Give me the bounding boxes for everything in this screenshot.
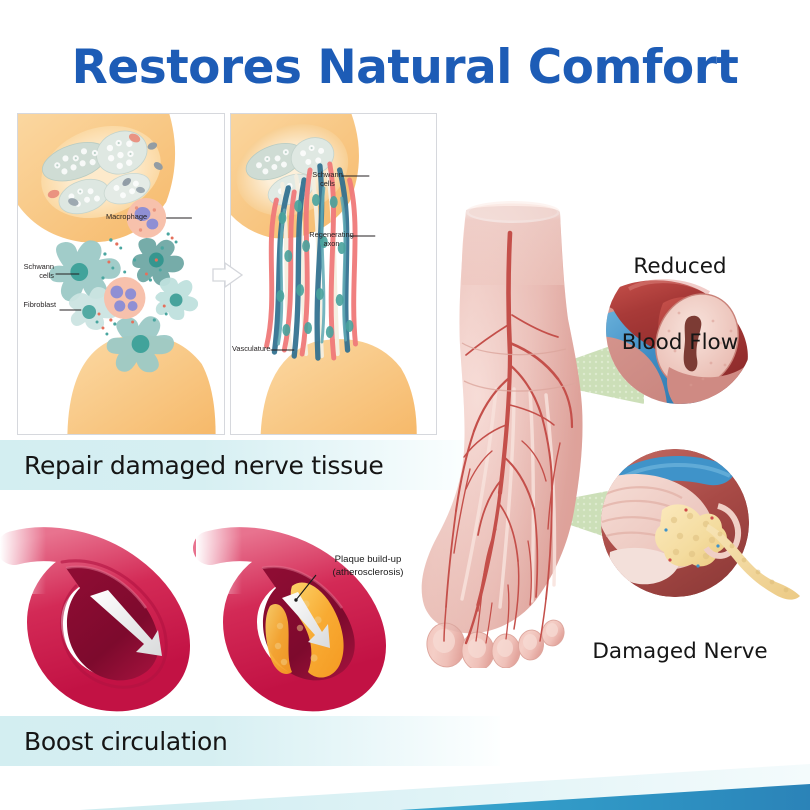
decorative-wedges [0,740,810,810]
caption-repair-nerve-text: Repair damaged nerve tissue [0,451,383,480]
damaged-nerve-title: Damaged Nerve [580,588,780,715]
arrow-right-icon [211,258,247,292]
infographic-canvas: Restores Natural Comfort [0,0,810,810]
degenerating-nerve-panel: Macrophage Schwann cells Fibroblast [17,113,225,435]
reduced-blood-flow-title: Reduced Blood Flow [600,203,760,406]
blood-vessel-comparison [0,500,440,715]
reduced-blood-flow-title-line2: Blood Flow [600,330,760,355]
page-title: Restores Natural Comfort [0,40,810,95]
reduced-blood-flow-title-line1: Reduced [600,254,760,279]
damaged-nerve-title-line1: Damaged Nerve [580,639,780,664]
